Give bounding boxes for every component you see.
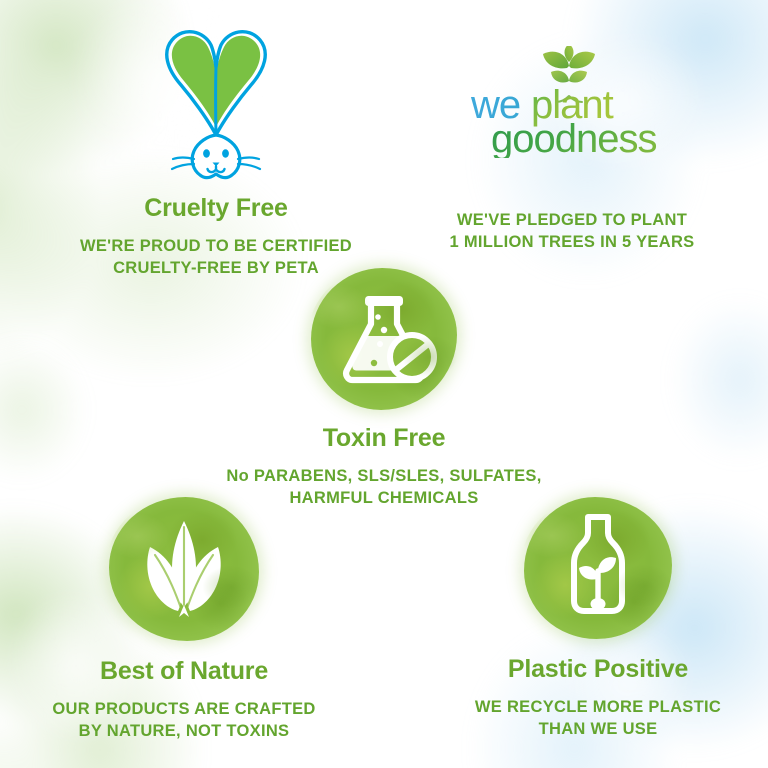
- bottle-sprout-icon: [524, 497, 672, 639]
- best-of-nature-icon-wrap: [0, 497, 376, 641]
- green-watercolor-blob: [311, 268, 457, 410]
- badge-best-of-nature: Best of Nature OUR PRODUCTS ARE CRAFTED …: [0, 497, 376, 742]
- peta-bunny-heart-icon: [24, 22, 408, 182]
- subtitle-line: WE RECYCLE MORE PLASTIC: [406, 696, 768, 718]
- flask-no-entry-icon: [311, 268, 457, 410]
- subtitle-line: THAN WE USE: [406, 718, 768, 740]
- badge-title-toxin-free: Toxin Free: [192, 424, 576, 453]
- subtitle-line: 1 MILLION TREES IN 5 YEARS: [380, 231, 764, 253]
- badge-subtitle-we-plant-goodness: WE'VE PLEDGED TO PLANT 1 MILLION TREES I…: [380, 209, 764, 253]
- svg-text:goodness: goodness: [491, 117, 656, 158]
- three-leaves-icon: [109, 497, 259, 641]
- plastic-positive-icon-wrap: [406, 497, 768, 639]
- badge-plastic-positive: Plastic Positive WE RECYCLE MORE PLASTIC…: [406, 497, 768, 740]
- subtitle-line: WE'RE PROUD TO BE CERTIFIED: [24, 235, 408, 257]
- we-plant-goodness-logo: we plant goodness: [380, 22, 764, 182]
- badge-subtitle-best-of-nature: OUR PRODUCTS ARE CRAFTED BY NATURE, NOT …: [0, 698, 376, 742]
- subtitle-line: No PARABENS, SLS/SLES, SULFATES,: [192, 465, 576, 487]
- badge-title-plastic-positive: Plastic Positive: [406, 655, 768, 684]
- infographic-canvas: Cruelty Free WE'RE PROUD TO BE CERTIFIED…: [0, 0, 768, 768]
- badge-title-best-of-nature: Best of Nature: [0, 657, 376, 686]
- green-watercolor-blob: [524, 497, 672, 639]
- subtitle-line: BY NATURE, NOT TOXINS: [0, 720, 376, 742]
- toxin-free-icon-wrap: [192, 268, 576, 410]
- badge-toxin-free: Toxin Free No PARABENS, SLS/SLES, SULFAT…: [192, 268, 576, 509]
- green-watercolor-blob: [109, 497, 259, 641]
- badge-subtitle-plastic-positive: WE RECYCLE MORE PLASTIC THAN WE USE: [406, 696, 768, 740]
- watercolor-wash-left-middle: [0, 300, 130, 520]
- watercolor-wash-right-middle: [608, 250, 768, 510]
- badge-cruelty-free: Cruelty Free WE'RE PROUD TO BE CERTIFIED…: [24, 22, 408, 279]
- subtitle-line: OUR PRODUCTS ARE CRAFTED: [0, 698, 376, 720]
- subtitle-line: WE'VE PLEDGED TO PLANT: [380, 209, 764, 231]
- badge-title-cruelty-free: Cruelty Free: [24, 194, 408, 223]
- badge-we-plant-goodness: we plant goodness WE'VE PLEDGED TO PLANT…: [380, 22, 764, 253]
